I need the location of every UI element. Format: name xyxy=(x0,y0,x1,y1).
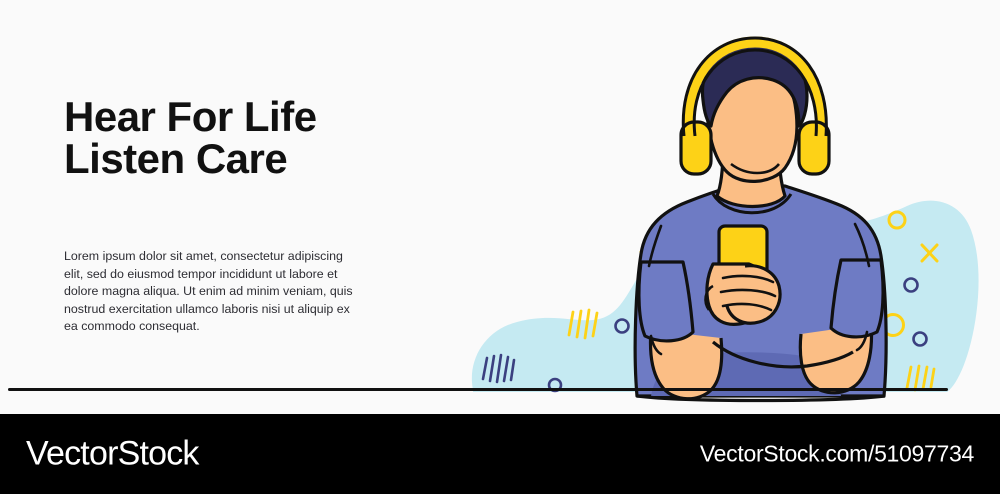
footer-bar: VectorStock VectorStock.com/51097734 xyxy=(0,414,1000,494)
headphone-earcup-left xyxy=(681,122,711,174)
vectorstock-logo: VectorStock xyxy=(26,435,199,474)
ground-line xyxy=(8,388,948,391)
vectorstock-url: VectorStock.com/51097734 xyxy=(700,441,974,468)
body-paragraph: Lorem ipsum dolor sit amet, consectetur … xyxy=(64,248,364,336)
page-title: Hear For Life Listen Care xyxy=(64,96,464,180)
sleeve-left xyxy=(639,262,693,341)
sleeve-right xyxy=(831,260,883,337)
hero-illustration xyxy=(455,30,1000,414)
banner-area: Hear For Life Listen Care Lorem ipsum do… xyxy=(0,0,1000,414)
headphone-earcup-right xyxy=(799,122,829,174)
banner-canvas: Hear For Life Listen Care Lorem ipsum do… xyxy=(0,0,1000,494)
